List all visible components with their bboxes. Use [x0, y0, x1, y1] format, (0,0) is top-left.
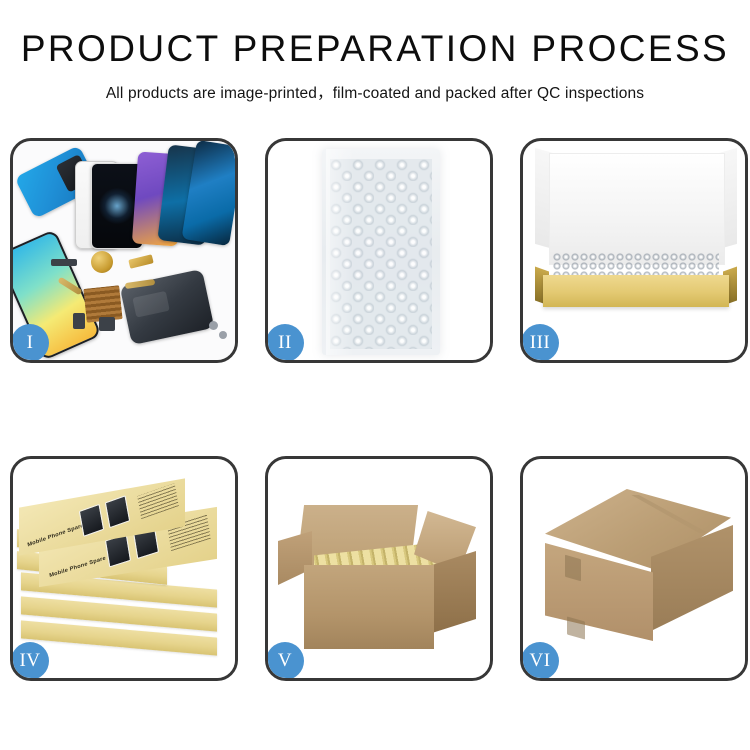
sealed-carton-photo [523, 459, 745, 678]
bubble-wrap-highlight [326, 149, 354, 355]
carton-right-side [432, 551, 476, 633]
small-chip-1 [51, 259, 77, 266]
process-step-panel-3[interactable]: III [520, 138, 748, 363]
box-lid-top-screen-2 [105, 495, 130, 528]
process-step-grid: I II III [10, 138, 740, 681]
process-step-panel-6[interactable]: VI [520, 456, 748, 681]
process-step-panel-1[interactable]: I [10, 138, 238, 363]
step-badge-5: V [266, 642, 304, 680]
carton-tape-bottom [567, 616, 585, 639]
phone-parts-photo [13, 141, 235, 360]
screw-2 [219, 331, 227, 339]
step-badge-6: VI [521, 642, 559, 680]
bubble-wrap-photo [268, 141, 490, 360]
process-step-panel-4[interactable]: Mobile Phone Spare Parts Mobile Phone Sp… [10, 456, 238, 681]
step-badge-4: IV [11, 642, 49, 680]
step-badge-3: III [521, 324, 559, 362]
inner-box-photo [523, 141, 745, 360]
box-lid-back [549, 153, 725, 265]
page-subtitle: All products are image-printed，film-coat… [0, 81, 750, 103]
box-lid-top-screen-1 [79, 504, 104, 537]
small-chip-3 [99, 317, 115, 331]
process-step-panel-2[interactable]: II [265, 138, 493, 363]
carton-front-face [304, 565, 434, 649]
carton-tape-top [565, 555, 581, 582]
box-lid-top-textlines [137, 483, 179, 519]
process-step-panel-5[interactable]: V [265, 456, 493, 681]
small-chip-2 [73, 313, 85, 329]
page-title: PRODUCT PREPARATION PROCESS [0, 30, 750, 69]
step-badge-2: II [266, 324, 304, 362]
page-header: PRODUCT PREPARATION PROCESS All products… [0, 0, 750, 103]
screw-1 [209, 321, 218, 330]
open-carton-photo [268, 459, 490, 678]
stacked-boxes-photo: Mobile Phone Spare Parts Mobile Phone Sp… [13, 459, 235, 678]
gold-bracket-1 [128, 254, 153, 269]
kraft-box-tray [543, 275, 729, 307]
gold-component [91, 251, 113, 273]
step-badge-1: I [11, 324, 49, 362]
phone-back-housing [120, 269, 215, 345]
